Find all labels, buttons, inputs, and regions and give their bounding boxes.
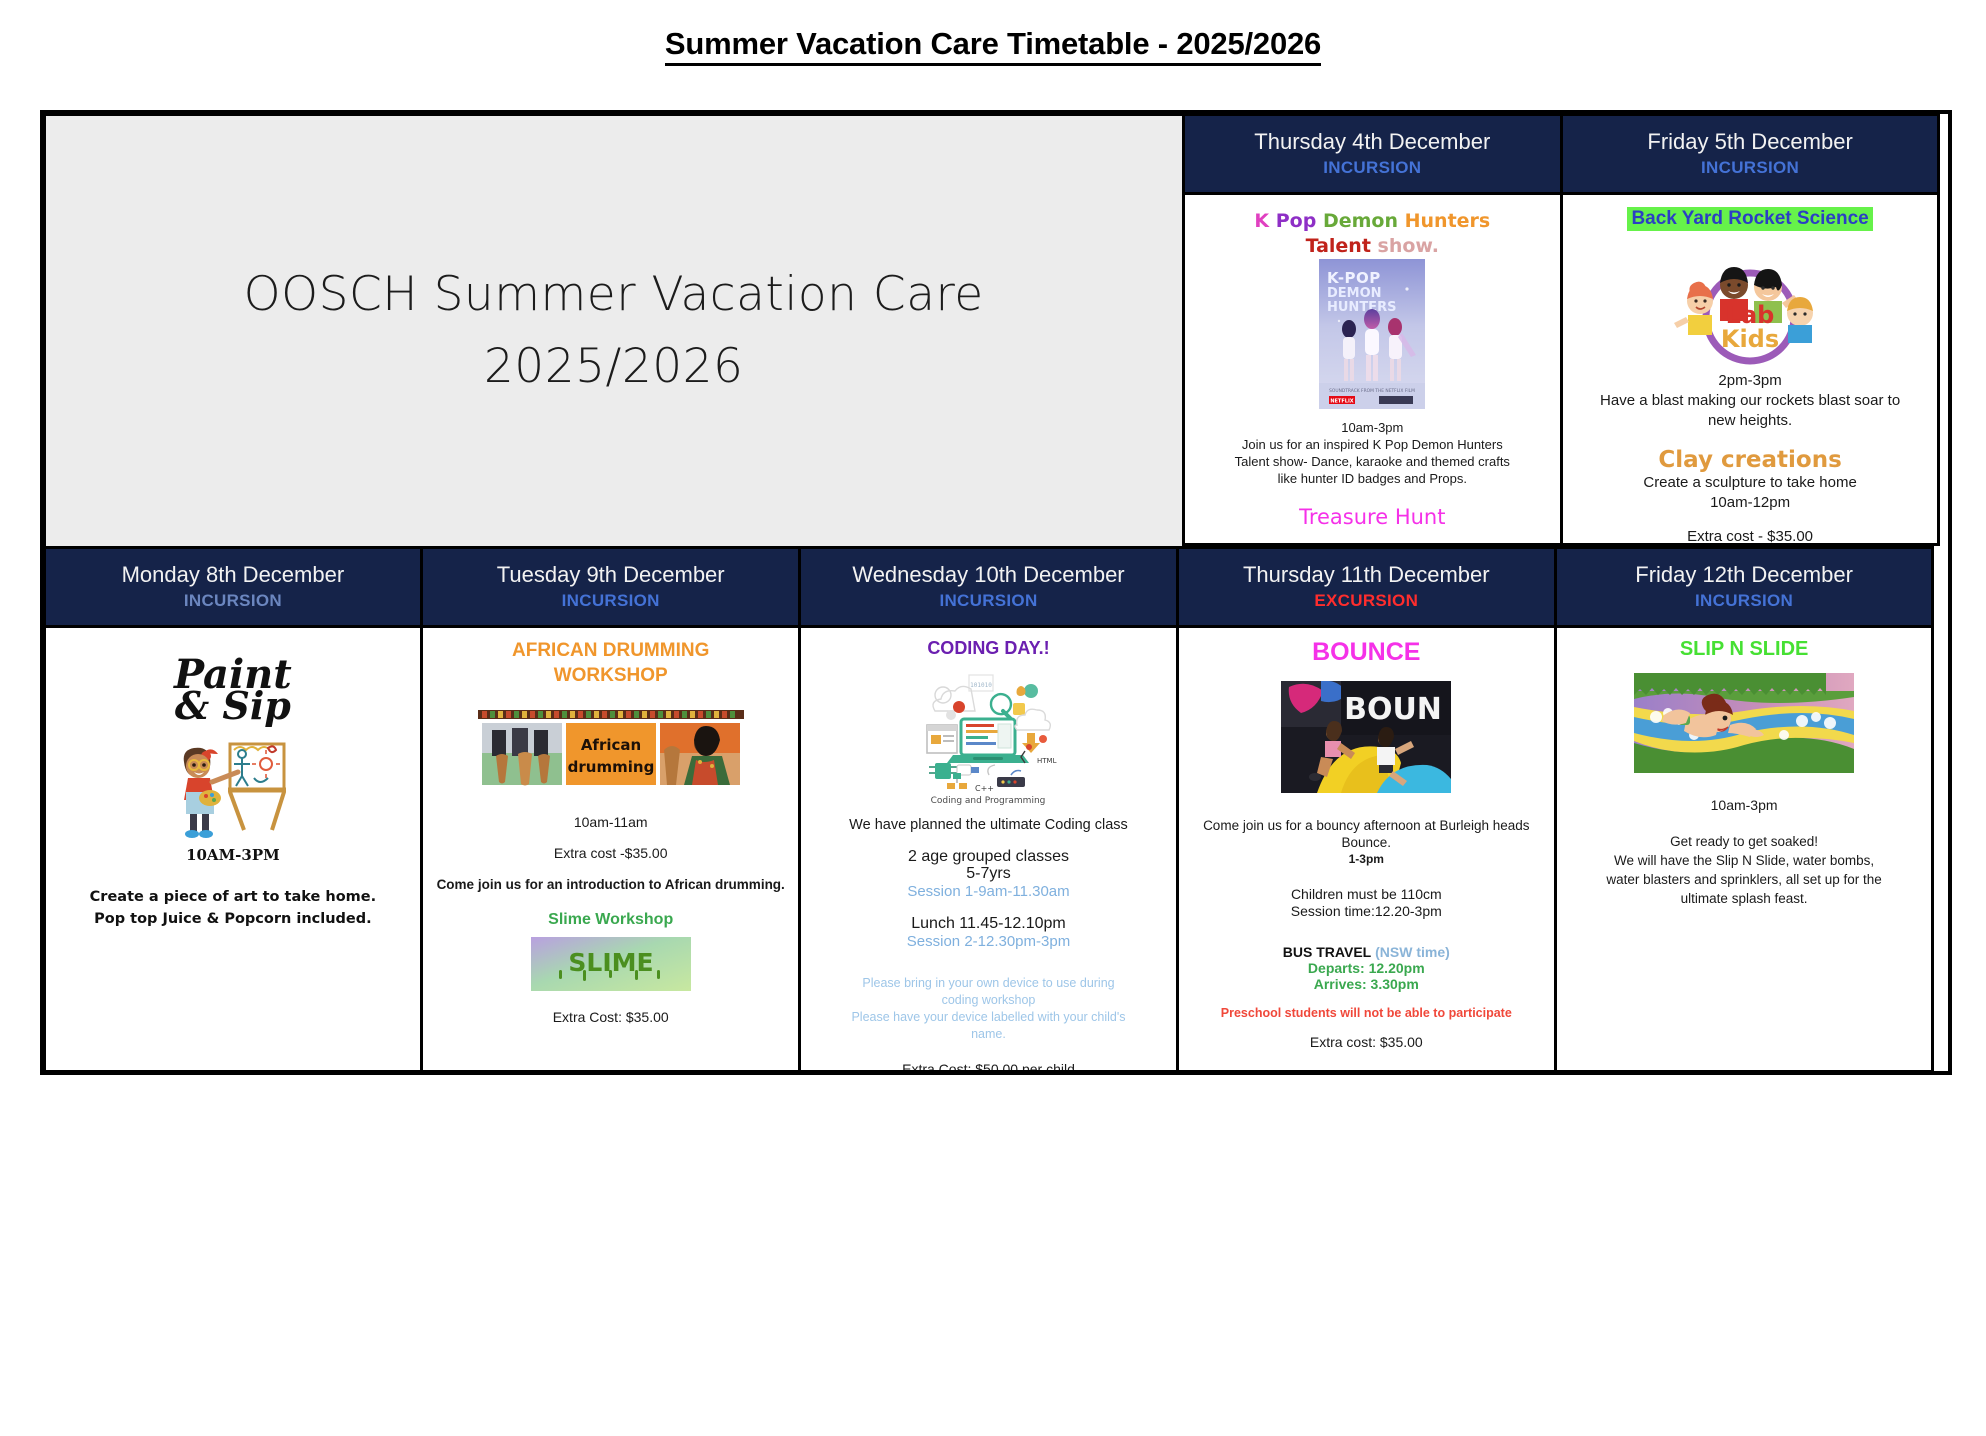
activity-desc-1: Come join us for a bouncy afternoon at B… <box>1191 817 1542 834</box>
week2-headers: Monday 8th December INCURSION Tuesday 9t… <box>44 547 1948 626</box>
activity-title-treasure-hunt: Treasure Hunt <box>1197 505 1548 529</box>
activity-cost: Extra cost -$35.00 <box>435 845 786 862</box>
banner-cell: OOSCH Summer Vacation Care 2025/2026 <box>43 113 1185 549</box>
activity-desc-2: Bounce. <box>1191 834 1542 851</box>
slip-n-slide-image <box>1634 673 1854 773</box>
lab-kids-text-kids: Kids <box>1721 325 1779 353</box>
day-cell-wednesday-10th: CODING DAY.! 101010 <box>798 625 1179 1073</box>
activity-cost: Extra Cost: $50.00 per child <box>813 1061 1164 1070</box>
activity-note-1: Please bring in your own device to use d… <box>813 975 1164 992</box>
day-date: Monday 8th December <box>122 562 345 588</box>
activity-height-requirement: Children must be 110cm <box>1191 886 1542 903</box>
african-drumming-caption-line2: drumming <box>567 758 654 776</box>
day-cell-monday-8th: Paint & Sip <box>43 625 424 1073</box>
day-content: CODING DAY.! 101010 <box>801 628 1176 1070</box>
svg-text:101010: 101010 <box>971 682 993 689</box>
day-date: Wednesday 10th December <box>852 562 1124 588</box>
day-type-badge: INCURSION <box>1323 158 1421 178</box>
day-cell-friday-5th: Back Yard Rocket Science <box>1560 192 1941 546</box>
activity-desc-2: Talent show- Dance, karaoke and themed c… <box>1197 453 1548 470</box>
bus-travel-note: (NSW time) <box>1375 944 1450 960</box>
day-date: Thursday 11th December <box>1243 562 1490 588</box>
activity-cost: Extra cost: $35.00 <box>1191 1034 1542 1051</box>
bounce-image-word: BOUN <box>1344 692 1442 727</box>
activity-time: 2pm-3pm <box>1575 371 1926 391</box>
activity-desc-2: Pop top Juice & Popcorn included. <box>58 908 409 930</box>
week1-days: Thursday 4th December INCURSION Friday 5… <box>1183 114 1945 547</box>
day-content: SLIP N SLIDE <box>1557 628 1932 1070</box>
kpop-word-talent: Talent <box>1306 235 1371 257</box>
timetable-page: Summer Vacation Care Timetable - 2025/20… <box>0 0 1986 1436</box>
banner-line2: 2025/2026 <box>484 331 744 403</box>
svg-text:SOUNDTRACK FROM THE NETFLIX FI: SOUNDTRACK FROM THE NETFLIX FILM <box>1329 388 1415 394</box>
day-type-badge: INCURSION <box>1695 591 1793 611</box>
day-type-badge: INCURSION <box>939 591 1037 611</box>
activity-time: 1-3pm <box>1191 851 1542 868</box>
coding-tag-cpp: C++ <box>975 784 994 793</box>
svg-text:K-POP: K-POP <box>1327 269 1381 287</box>
activity-desc: Come join us for an introduction to Afri… <box>435 876 786 893</box>
activity-desc-3: water blasters and sprinklers, all set u… <box>1569 870 1920 889</box>
day-content: K Pop Demon Hunters Talent show. <box>1185 195 1560 543</box>
activity-title-slip-n-slide: SLIP N SLIDE <box>1569 638 1920 661</box>
day-date: Friday 12th December <box>1635 562 1853 588</box>
banner-line1: OOSCH Summer Vacation Care <box>244 259 984 331</box>
week1-row: OOSCH Summer Vacation Care 2025/2026 Thu… <box>44 114 1948 547</box>
activity-desc-4: ultimate splash feast. <box>1569 889 1920 908</box>
day-content: Paint & Sip <box>46 628 421 1070</box>
bus-departs: Departs: 12.20pm <box>1191 960 1542 976</box>
paint-sip-logo-line2: & Sip <box>58 688 409 724</box>
day-content: AFRICAN DRUMMING WORKSHOP <box>423 628 798 1070</box>
page-title-text: Summer Vacation Care Timetable - 2025/20… <box>665 26 1321 66</box>
activity-desc-1: Get ready to get soaked! <box>1569 832 1920 851</box>
activity-title-coding-day: CODING DAY.! <box>813 638 1164 659</box>
kpop-word-hunters: Hunters <box>1405 210 1491 232</box>
day-header-thursday-11th[interactable]: Thursday 11th December EXCURSION <box>1176 546 1557 628</box>
day-content: BOUNCE BOUN <box>1179 628 1554 1070</box>
day-header-tuesday-9th[interactable]: Tuesday 9th December INCURSION <box>420 546 801 628</box>
kid-painting-easel-image <box>168 734 298 842</box>
day-type-badge: INCURSION <box>1701 158 1799 178</box>
activity-title-kpop: K Pop Demon Hunters Talent show. <box>1197 209 1548 259</box>
activity-desc-1: Create a piece of art to take home. <box>58 886 409 908</box>
page-title: Summer Vacation Care Timetable - 2025/20… <box>0 26 1986 62</box>
kpop-word-k: K <box>1254 210 1269 232</box>
kpop-word-demon: Demon <box>1323 210 1398 232</box>
bounce-venue-image: BOUN <box>1281 681 1451 793</box>
day-content: Back Yard Rocket Science <box>1563 195 1938 543</box>
day-header-thursday-4th[interactable]: Thursday 4th December INCURSION <box>1182 113 1563 195</box>
activity-title-bounce: BOUNCE <box>1191 638 1542 667</box>
activity-title-rocket-science: Back Yard Rocket Science <box>1627 207 1872 231</box>
coding-tag-html: HTML <box>1037 757 1057 765</box>
bus-arrives: Arrives: 3.30pm <box>1191 976 1542 992</box>
activity-lunch: Lunch 11.45-12.10pm <box>813 915 1164 932</box>
activity-second-cost: Extra Cost: $35.00 <box>435 1009 786 1026</box>
activity-title-clay-creations: Clay creations <box>1575 447 1926 473</box>
activity-desc-3: like hunter ID badges and Props. <box>1197 470 1548 487</box>
day-date: Tuesday 9th December <box>497 562 725 588</box>
activity-note-4: name. <box>813 1026 1164 1043</box>
activity-session-2: Session 2-12.30pm-3pm <box>813 932 1164 951</box>
activity-second-desc: Create a sculpture to take home <box>1575 473 1926 493</box>
activity-desc: We have planned the ultimate Coding clas… <box>813 817 1164 834</box>
week1-bodies: K Pop Demon Hunters Talent show. <box>1183 193 1945 544</box>
day-type-badge: INCURSION <box>184 591 282 611</box>
activity-time: 10AM-3PM <box>58 848 409 862</box>
activity-title-line1: AFRICAN DRUMMING <box>435 638 786 663</box>
activity-second-time: 10am-12pm <box>1575 493 1926 513</box>
kpop-poster-image: K-POP DEMON HUNTERS <box>1319 259 1425 409</box>
activity-title-slime-workshop: Slime Workshop <box>435 911 786 929</box>
lab-kids-logo-image: Lab Kids <box>1664 231 1836 371</box>
activity-warning: Preschool students will not be able to p… <box>1191 1006 1542 1020</box>
african-drumming-caption-line1: African <box>581 736 641 754</box>
african-drumming-image: African drumming <box>478 710 744 796</box>
coding-programming-image: 101010 <box>913 667 1063 807</box>
day-cell-thursday-11th: BOUNCE BOUN <box>1176 625 1557 1073</box>
week2-bodies: Paint & Sip <box>44 626 1948 1071</box>
activity-desc-1: Join us for an inspired K Pop Demon Hunt… <box>1197 436 1548 453</box>
kpop-word-show: show. <box>1378 235 1439 257</box>
day-date: Friday 5th December <box>1647 129 1852 155</box>
day-cell-thursday-4th: K Pop Demon Hunters Talent show. <box>1182 192 1563 546</box>
week1-headers: Thursday 4th December INCURSION Friday 5… <box>1183 114 1945 193</box>
day-header-monday-8th[interactable]: Monday 8th December INCURSION <box>43 546 424 628</box>
svg-text:NETFLIX: NETFLIX <box>1331 398 1354 404</box>
activity-classes: 2 age grouped classes <box>813 848 1164 865</box>
coding-image-caption: Coding and Programming <box>931 796 1046 806</box>
activity-time: 10am-11am <box>435 814 786 831</box>
svg-text:DEMON: DEMON <box>1327 286 1382 301</box>
day-type-badge: INCURSION <box>562 591 660 611</box>
activity-age-group: 5-7yrs <box>813 865 1164 882</box>
kpop-word-pop: Pop <box>1276 210 1317 232</box>
day-type-badge: EXCURSION <box>1314 591 1418 611</box>
slime-image: SLIME <box>531 937 691 991</box>
day-header-wednesday-10th[interactable]: Wednesday 10th December INCURSION <box>798 546 1179 628</box>
day-header-friday-12th[interactable]: Friday 12th December INCURSION <box>1554 546 1935 628</box>
day-date: Thursday 4th December <box>1254 129 1490 155</box>
bus-travel-label: BUS TRAVEL <box>1283 944 1371 960</box>
day-header-friday-5th[interactable]: Friday 5th December INCURSION <box>1560 113 1941 195</box>
activity-desc-2: We will have the Slip N Slide, water bom… <box>1569 851 1920 870</box>
activity-session-time: Session time:12.20-3pm <box>1191 903 1542 920</box>
day-cell-friday-12th: SLIP N SLIDE <box>1554 625 1935 1073</box>
activity-note-3: Please have your device labelled with yo… <box>813 1009 1164 1026</box>
svg-text:HUNTERS: HUNTERS <box>1327 300 1396 315</box>
activity-session-1: Session 1-9am-11.30am <box>813 882 1164 901</box>
activity-note-2: coding workshop <box>813 992 1164 1009</box>
activity-cost: Extra cost - $35.00 <box>1575 527 1926 543</box>
activity-time: 10am-3pm <box>1569 797 1920 814</box>
timetable-grid: OOSCH Summer Vacation Care 2025/2026 Thu… <box>40 110 1952 1075</box>
activity-title-line2: WORKSHOP <box>435 663 786 688</box>
activity-desc-2: new heights. <box>1575 411 1926 431</box>
activity-desc-1: Have a blast making our rockets blast so… <box>1575 391 1926 411</box>
day-cell-tuesday-9th: AFRICAN DRUMMING WORKSHOP <box>420 625 801 1073</box>
activity-time: 10am-3pm <box>1197 419 1548 436</box>
